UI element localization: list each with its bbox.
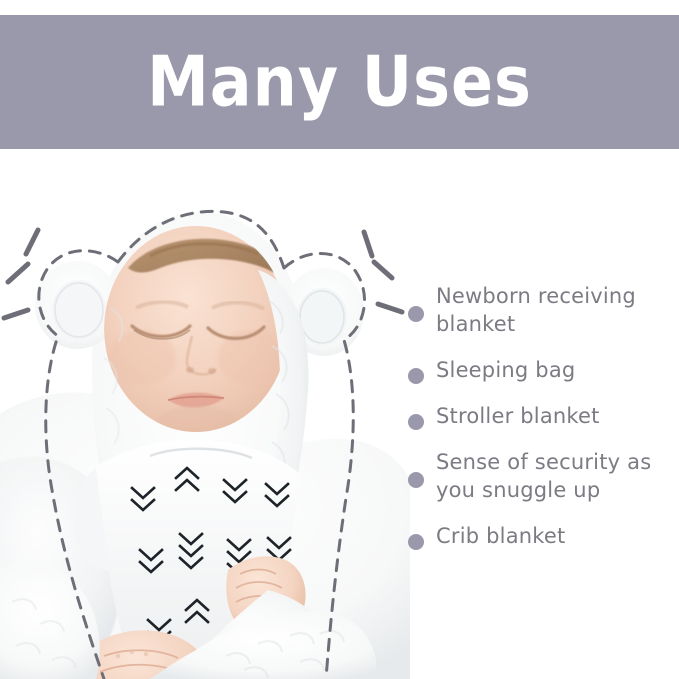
header-banner: Many Uses	[0, 15, 679, 149]
list-item: Sense of security as you snuggle up	[408, 448, 679, 504]
list-item: Stroller blanket	[408, 402, 679, 430]
bullet-dot-icon	[408, 534, 424, 550]
list-item: Crib blanket	[408, 522, 679, 550]
list-item-label: Sense of security as you snuggle up	[436, 448, 662, 504]
product-photo	[0, 150, 410, 679]
page-title: Many Uses	[147, 47, 532, 116]
list-item-label: Stroller blanket	[436, 402, 600, 430]
list-item-label: Newborn receiving blanket	[436, 282, 662, 338]
uses-list: Newborn receiving blanket Sleeping bag S…	[408, 282, 679, 550]
baby-blanket-photo-illustration	[0, 150, 410, 679]
bullet-dot-icon	[408, 368, 424, 384]
list-item-label: Sleeping bag	[436, 356, 575, 384]
bullet-dot-icon	[408, 306, 424, 322]
list-item: Sleeping bag	[408, 356, 679, 384]
list-item: Newborn receiving blanket	[408, 282, 679, 338]
list-item-label: Crib blanket	[436, 522, 565, 550]
bullet-dot-icon	[408, 472, 424, 488]
product-feature-card: Many Uses	[0, 0, 679, 679]
bullet-dot-icon	[408, 414, 424, 430]
